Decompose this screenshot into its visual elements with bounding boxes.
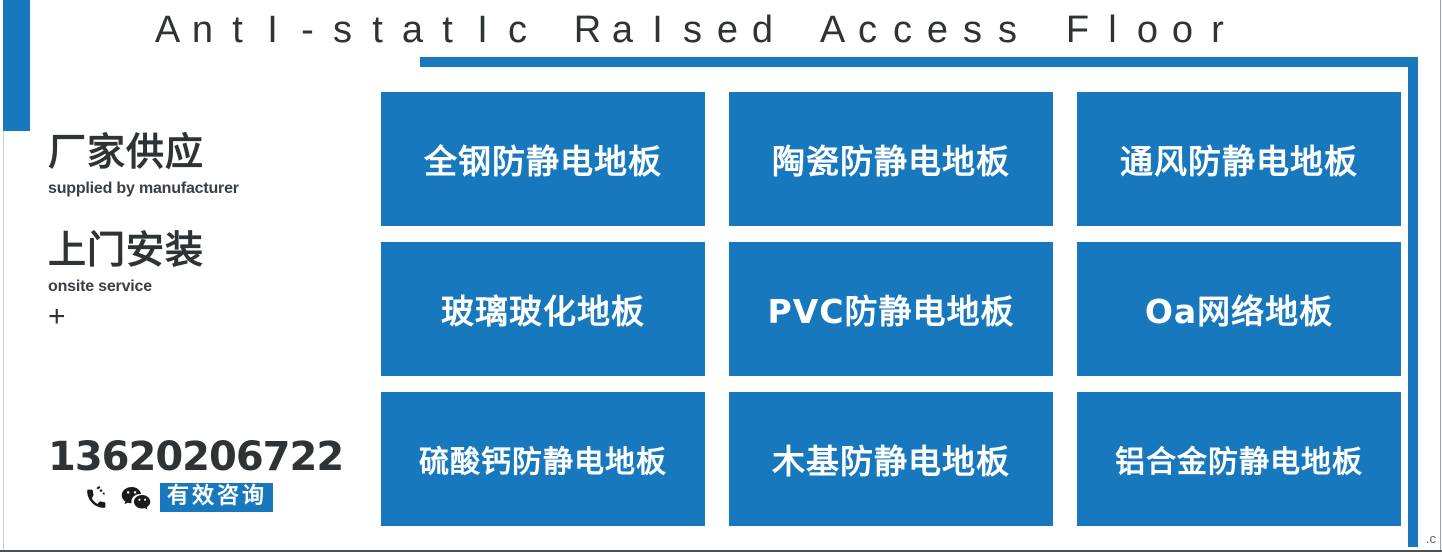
headline-char	[535, 6, 570, 54]
headline-char: t	[220, 6, 255, 54]
headline-char: t	[430, 6, 465, 54]
product-tile[interactable]: 硫酸钙防静电地板	[381, 392, 705, 526]
headline-char: A	[815, 6, 850, 54]
product-tile-grid: 全钢防静电地板陶瓷防静电地板通风防静电地板玻璃玻化地板PVC防静电地板Oa网络地…	[381, 92, 1401, 526]
headline-char: F	[1060, 6, 1095, 54]
feature-title-en: supplied by manufacturer	[48, 178, 348, 200]
left-accent-bar	[3, 0, 30, 131]
product-tile-label: PVC防静电地板	[768, 285, 1015, 333]
headline-char: r	[1200, 6, 1235, 54]
product-tile-label: 木基防静电地板	[772, 435, 1010, 483]
product-tile-label: Oa网络地板	[1145, 285, 1333, 333]
headline-char: t	[360, 6, 395, 54]
headline-char: A	[150, 6, 185, 54]
headline-char: I	[640, 6, 675, 54]
phone-number[interactable]: 13620206722	[48, 434, 348, 480]
headline-char: o	[1130, 6, 1165, 54]
status-badge: 有效咨询	[160, 483, 273, 512]
product-tile-label: 玻璃玻化地板	[441, 285, 645, 333]
product-tile[interactable]: 全钢防静电地板	[381, 92, 705, 226]
contact-block: 13620206722	[48, 434, 348, 512]
headline-char: n	[185, 6, 220, 54]
headline-char: s	[325, 6, 360, 54]
headline-char: e	[710, 6, 745, 54]
product-tile[interactable]: 玻璃玻化地板	[381, 242, 705, 376]
left-info-panel: 厂家供应 supplied by manufacturer 上门安装 onsit…	[48, 128, 348, 358]
product-tile[interactable]: 通风防静电地板	[1077, 92, 1401, 226]
product-tile-label: 铝合金防静电地板	[1115, 437, 1363, 481]
product-tile-label: 全钢防静电地板	[424, 135, 662, 183]
wechat-icon	[121, 485, 151, 511]
plus-mark: +	[48, 302, 348, 332]
feature-title-cn: 厂家供应	[48, 128, 348, 176]
product-banner: AntI-statIc RaIsed Access Floor 厂家供应 sup…	[0, 0, 1442, 552]
headline-char: -	[290, 6, 325, 54]
feature-title-en: onsite service	[48, 276, 348, 298]
headline-char: a	[395, 6, 430, 54]
headline-char: o	[1165, 6, 1200, 54]
right-hairline-divider	[1440, 0, 1441, 552]
headline-char	[780, 6, 815, 54]
headline-char	[1025, 6, 1060, 54]
headline-char: I	[255, 6, 290, 54]
headline-char: c	[500, 6, 535, 54]
headline-char: d	[745, 6, 780, 54]
product-tile[interactable]: Oa网络地板	[1077, 242, 1401, 376]
headline-char: l	[1095, 6, 1130, 54]
product-tile[interactable]: 陶瓷防静电地板	[729, 92, 1053, 226]
feature-item-onsite: 上门安装 onsite service +	[48, 226, 348, 332]
headline-char: c	[850, 6, 885, 54]
left-hairline-divider	[3, 131, 4, 552]
headline-char: c	[885, 6, 920, 54]
product-tile[interactable]: PVC防静电地板	[729, 242, 1053, 376]
headline-char: a	[605, 6, 640, 54]
product-tile-label: 通风防静电地板	[1120, 135, 1358, 183]
feature-title-cn: 上门安装	[48, 226, 348, 274]
product-tile-label: 陶瓷防静电地板	[772, 135, 1010, 183]
headline-char: I	[465, 6, 500, 54]
page-title: AntI-statIc RaIsed Access Floor	[150, 6, 1435, 54]
headline-char: R	[570, 6, 605, 54]
phone-handset-icon	[82, 485, 112, 511]
product-tile-label: 硫酸钙防静电地板	[419, 437, 667, 481]
frame-top-bar	[420, 57, 1418, 67]
product-tile[interactable]: 木基防静电地板	[729, 392, 1053, 526]
headline-char: e	[920, 6, 955, 54]
headline-char: s	[675, 6, 710, 54]
headline-char: s	[955, 6, 990, 54]
product-tile[interactable]: 铝合金防静电地板	[1077, 392, 1401, 526]
frame-right-bar	[1408, 57, 1418, 547]
headline-char: s	[990, 6, 1025, 54]
feature-item-manufacturer: 厂家供应 supplied by manufacturer	[48, 128, 348, 200]
watermark: .c	[1426, 531, 1436, 546]
contact-icons-row: 有效咨询	[48, 483, 348, 512]
